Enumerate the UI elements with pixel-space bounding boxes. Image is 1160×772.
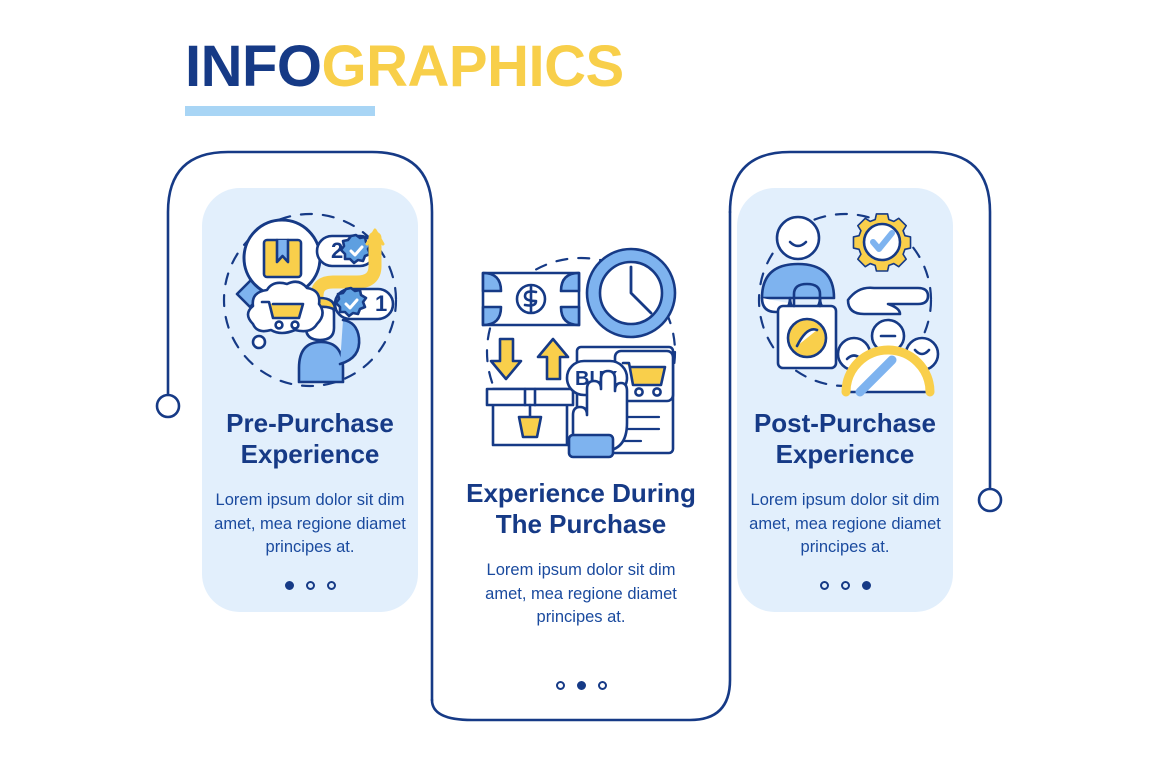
card-title-post-purchase: Post-Purchase Experience: [754, 408, 936, 469]
card-body-during-purchase: Lorem ipsum dolor sit dim amet, mea regi…: [470, 559, 692, 629]
card-pre-purchase[interactable]: 2 1: [202, 188, 418, 612]
title-underline: [185, 106, 375, 116]
step-dot-2[interactable]: [306, 581, 315, 590]
connector-node-left: [157, 395, 179, 417]
illustration-post-purchase: [737, 194, 953, 404]
dollar-banknote-icon: [483, 273, 579, 325]
clock-icon: [587, 249, 675, 337]
card-title-pre-purchase: Pre-Purchase Experience: [226, 408, 394, 469]
title-part-info: INFO: [185, 34, 322, 99]
card-post-purchase[interactable]: Post-Purchase Experience Lorem ipsum dol…: [737, 188, 953, 612]
open-hand-icon: [848, 288, 928, 314]
title-part-graphics: GRAPHICS: [322, 34, 624, 99]
step-dot-1[interactable]: [556, 681, 565, 690]
step-dots-3: [820, 581, 871, 590]
svg-text:1: 1: [375, 291, 387, 316]
review-badge-1-icon: 1: [335, 288, 393, 319]
infographic-canvas: INFOGRAPHICS: [0, 0, 1160, 772]
step-dot-1[interactable]: [820, 581, 829, 590]
step-dot-3[interactable]: [598, 681, 607, 690]
illustration-during-purchase: BUY: [443, 236, 719, 468]
step-dots-2: [556, 681, 607, 690]
gear-with-check-icon: [853, 214, 910, 271]
step-dot-3[interactable]: [862, 581, 871, 590]
step-dot-2[interactable]: [577, 681, 586, 690]
illustration-pre-purchase: 2 1: [202, 194, 418, 404]
card-during-purchase[interactable]: BUY Experience During The Purchase Lorem…: [443, 214, 719, 720]
page-title: INFOGRAPHICS: [185, 38, 624, 96]
gift-box-tag-icon: [487, 389, 573, 445]
step-dot-2[interactable]: [841, 581, 850, 590]
satisfaction-gauge-icon: [846, 350, 930, 392]
step-dot-3[interactable]: [327, 581, 336, 590]
card-body-post-purchase: Lorem ipsum dolor sit dim amet, mea regi…: [739, 489, 951, 559]
exchange-arrows-icon: [491, 339, 568, 379]
connector-node-right: [979, 489, 1001, 511]
step-dots-1: [285, 581, 336, 590]
review-badge-2-icon: 2: [317, 235, 375, 266]
card-title-during-purchase: Experience During The Purchase: [466, 478, 696, 539]
step-dot-1[interactable]: [285, 581, 294, 590]
buy-checkout-icon: BUY: [567, 347, 673, 457]
card-body-pre-purchase: Lorem ipsum dolor sit dim amet, mea regi…: [204, 489, 416, 559]
